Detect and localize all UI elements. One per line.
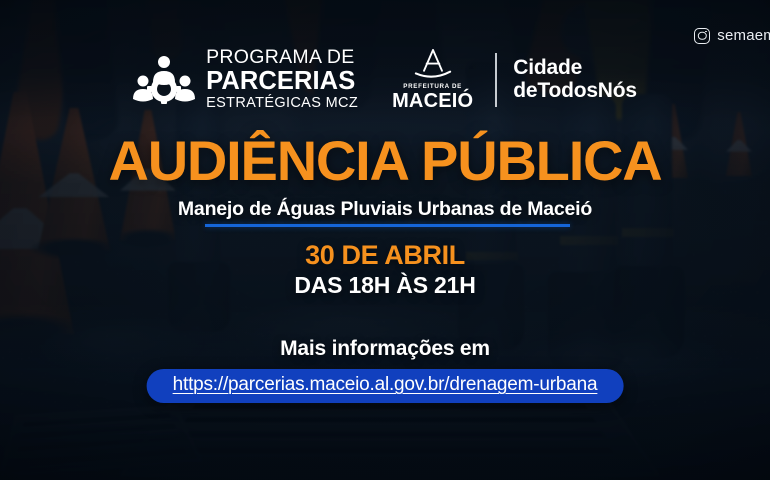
page-subtitle: Manejo de Águas Pluviais Urbanas de Mace… — [0, 198, 770, 221]
parcerias-people-gear-icon — [133, 55, 195, 105]
cidade-de-todos-nos-slogan: Cidade deTodosNós — [513, 57, 637, 102]
slogan-line-1: Cidade — [513, 57, 637, 80]
parcerias-logo: PROGRAMA DE PARCERIAS ESTRATÉGICAS MCZ — [133, 48, 358, 111]
parcerias-line-1: PROGRAMA DE — [206, 48, 358, 68]
parcerias-line-2: PARCERIAS — [206, 69, 358, 95]
url-pill[interactable]: https://parcerias.maceio.al.gov.br/drena… — [147, 369, 624, 403]
parcerias-wordmark: PROGRAMA DE PARCERIAS ESTRATÉGICAS MCZ — [206, 48, 358, 111]
maceio-name: MACEIÓ — [392, 91, 473, 111]
maceio-lighthouse-icon — [406, 48, 460, 80]
instagram-icon — [694, 28, 710, 44]
event-poster: semaem — [0, 0, 770, 480]
instagram-handle-text: semaem — [717, 27, 770, 44]
maceio-prefix: PREFEITURA DE — [403, 83, 462, 90]
event-url-link[interactable]: https://parcerias.maceio.al.gov.br/drena… — [173, 374, 598, 396]
logo-divider — [495, 53, 497, 107]
event-date: 30 DE ABRIL — [0, 240, 770, 271]
title-divider-rule — [205, 224, 570, 227]
maceio-logo: PREFEITURA DE MACEIÓ — [392, 48, 473, 111]
instagram-handle[interactable]: semaem — [694, 27, 770, 44]
parcerias-line-3: ESTRATÉGICAS MCZ — [206, 96, 358, 111]
poster-content: semaem — [0, 0, 770, 480]
event-time: DAS 18H ÀS 21H — [0, 272, 770, 299]
logo-bar: PROGRAMA DE PARCERIAS ESTRATÉGICAS MCZ P… — [0, 48, 770, 111]
slogan-line-2: deTodosNós — [513, 80, 637, 103]
more-info-label: Mais informações em — [0, 337, 770, 361]
page-title: AUDIÊNCIA PÚBLICA — [0, 133, 770, 189]
